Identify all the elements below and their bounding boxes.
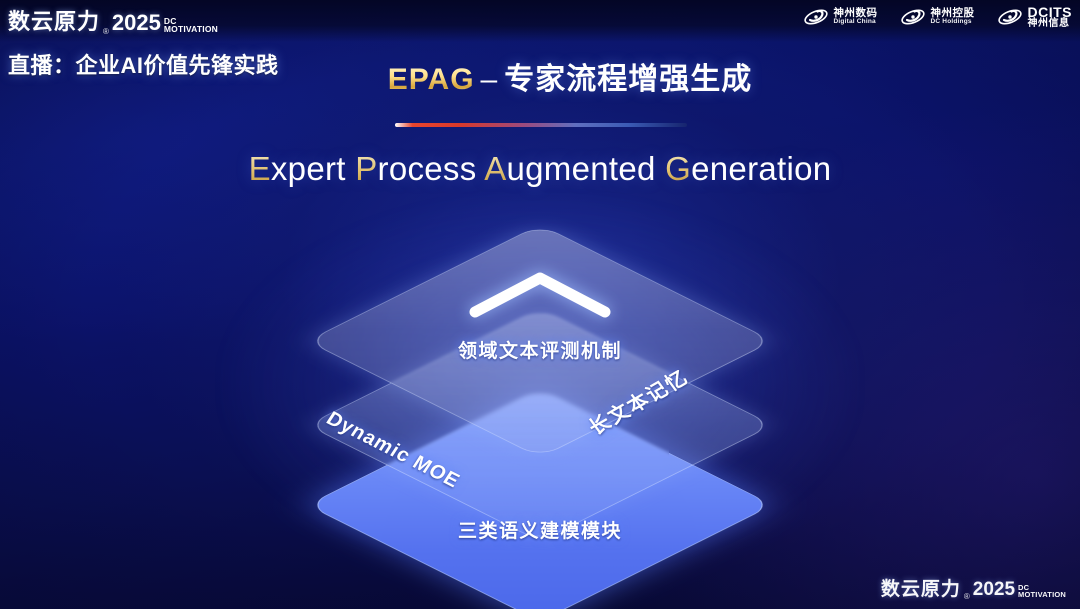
partner-logo-group: 神州数码 Digital China 神州控股 DC Holdings [803,5,1073,29]
registered-mark: ® [103,27,109,36]
partner-logo-dc-holdings: 神州控股 DC Holdings [900,7,975,27]
partner-name-en: DC Holdings [931,19,975,26]
slide-canvas: 数云原力 ® 2025 DC MOTIVATION 直播：企业AI价值先锋实践 … [0,0,1080,609]
brand-year: 2025 [112,10,161,36]
subtitle-rest-augmented: ugmented [507,150,656,187]
partner-text: 神州控股 DC Holdings [931,8,975,25]
galaxy-swirl-icon [997,7,1023,27]
subtitle: Expert Process Augmented Generation [0,150,1080,188]
conference-logo: 数云原力 ® 2025 DC MOTIVATION [8,4,218,36]
brand-name-cn: 数云原力 [8,4,100,36]
partner-logo-dcits: DCITS 神州信息 [997,5,1073,29]
brand-subtitle: DC MOTIVATION [164,18,218,36]
subtitle-cap-p: P [355,150,377,187]
subtitle-cap-g: G [665,150,691,187]
partner-text: DCITS 神州信息 [1028,5,1073,29]
gradient-divider [395,123,687,127]
partner-name-en: Digital China [834,19,878,26]
brand-name-cn: 数云原力 [881,574,961,601]
registered-mark: ® [964,592,970,601]
brand-sub-line2: MOTIVATION [1018,592,1066,599]
subtitle-rest-expert: xpert [271,150,346,187]
title-dash: – [475,63,505,96]
partner-name-cn: 神州信息 [1028,19,1073,29]
partner-logo-digital-china: 神州数码 Digital China [803,7,878,27]
title-acronym: EPAG [388,63,475,96]
layer-stack-diagram: 领域文本评测机制 Dynamic MOE 长文本记忆 三类语义建模模块 [260,228,820,568]
subtitle-cap-e: E [249,150,271,187]
brand-subtitle: DC MOTIVATION [1018,585,1066,601]
partner-name-latin: DCITS [1028,5,1073,19]
brand-year: 2025 [973,579,1015,601]
partner-text: 神州数码 Digital China [834,8,878,25]
title-chinese: 专家流程增强生成 [504,63,752,96]
subtitle-cap-a: A [484,150,506,187]
subtitle-rest-process: rocess [378,150,477,187]
brand-sub-line2: MOTIVATION [164,26,218,34]
galaxy-swirl-icon [803,7,829,27]
live-stream-label: 直播：企业AI价值先锋实践 [8,48,279,80]
watermark-logo: 数云原力 ® 2025 DC MOTIVATION [881,574,1066,601]
subtitle-rest-generation: eneration [691,150,831,187]
galaxy-swirl-icon [900,7,926,27]
